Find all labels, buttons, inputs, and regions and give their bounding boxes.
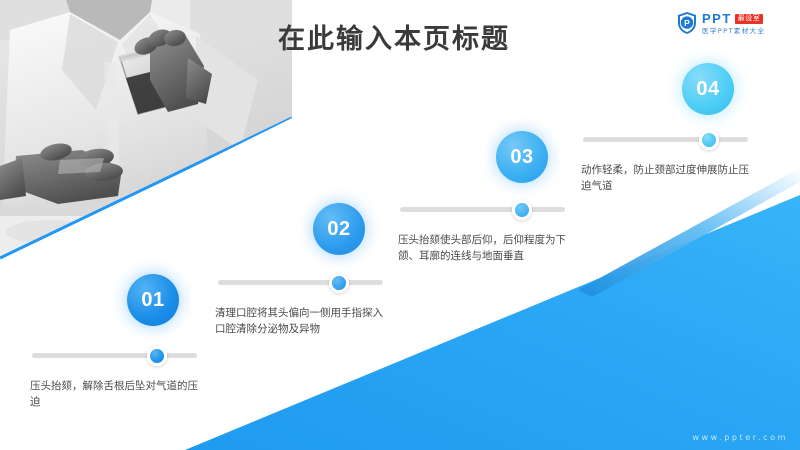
step-description: 清理口腔将其头偏向一侧用手指探入口腔清除分泌物及异物 (215, 305, 387, 338)
logo-badge: 最设室 (735, 14, 764, 24)
step-track (218, 280, 383, 285)
step-description: 压头抬颏，解除舌根后坠对气道的压迫 (30, 378, 198, 411)
step-knob[interactable] (699, 130, 719, 150)
step-number-badge: 04 (682, 63, 734, 115)
page-title: 在此输入本页标题 (278, 17, 510, 56)
footer-watermark: www.ppter.com (692, 433, 788, 442)
step-knob[interactable] (147, 346, 167, 366)
step-description: 动作轻柔，防止颈部过度伸展防止压迫气道 (581, 162, 757, 195)
hero-photo (0, 0, 292, 262)
logo-brand-text: PPT (702, 12, 732, 25)
step-description: 压头抬颏使头部后仰，后仰程度为下颌、耳廓的连线与地面垂直 (398, 232, 570, 265)
hero-photo-image (0, 0, 292, 262)
shield-icon: P (676, 11, 698, 35)
step-track (400, 207, 565, 212)
svg-text:P: P (684, 18, 690, 28)
step-number-badge: 02 (313, 203, 365, 255)
step-track (583, 137, 748, 142)
step-knob[interactable] (512, 200, 532, 220)
logo-tagline: 医学PPT素材大全 (702, 28, 765, 35)
slide-canvas: 在此输入本页标题 P PPT 最设室 医学PPT素材大全 01 压头抬颏，解除舌… (0, 0, 800, 450)
brand-logo[interactable]: P PPT 最设室 医学PPT素材大全 (676, 8, 794, 38)
step-number-badge: 01 (127, 274, 179, 326)
step-number-badge: 03 (496, 131, 548, 183)
step-knob[interactable] (329, 273, 349, 293)
step-track (32, 353, 197, 358)
